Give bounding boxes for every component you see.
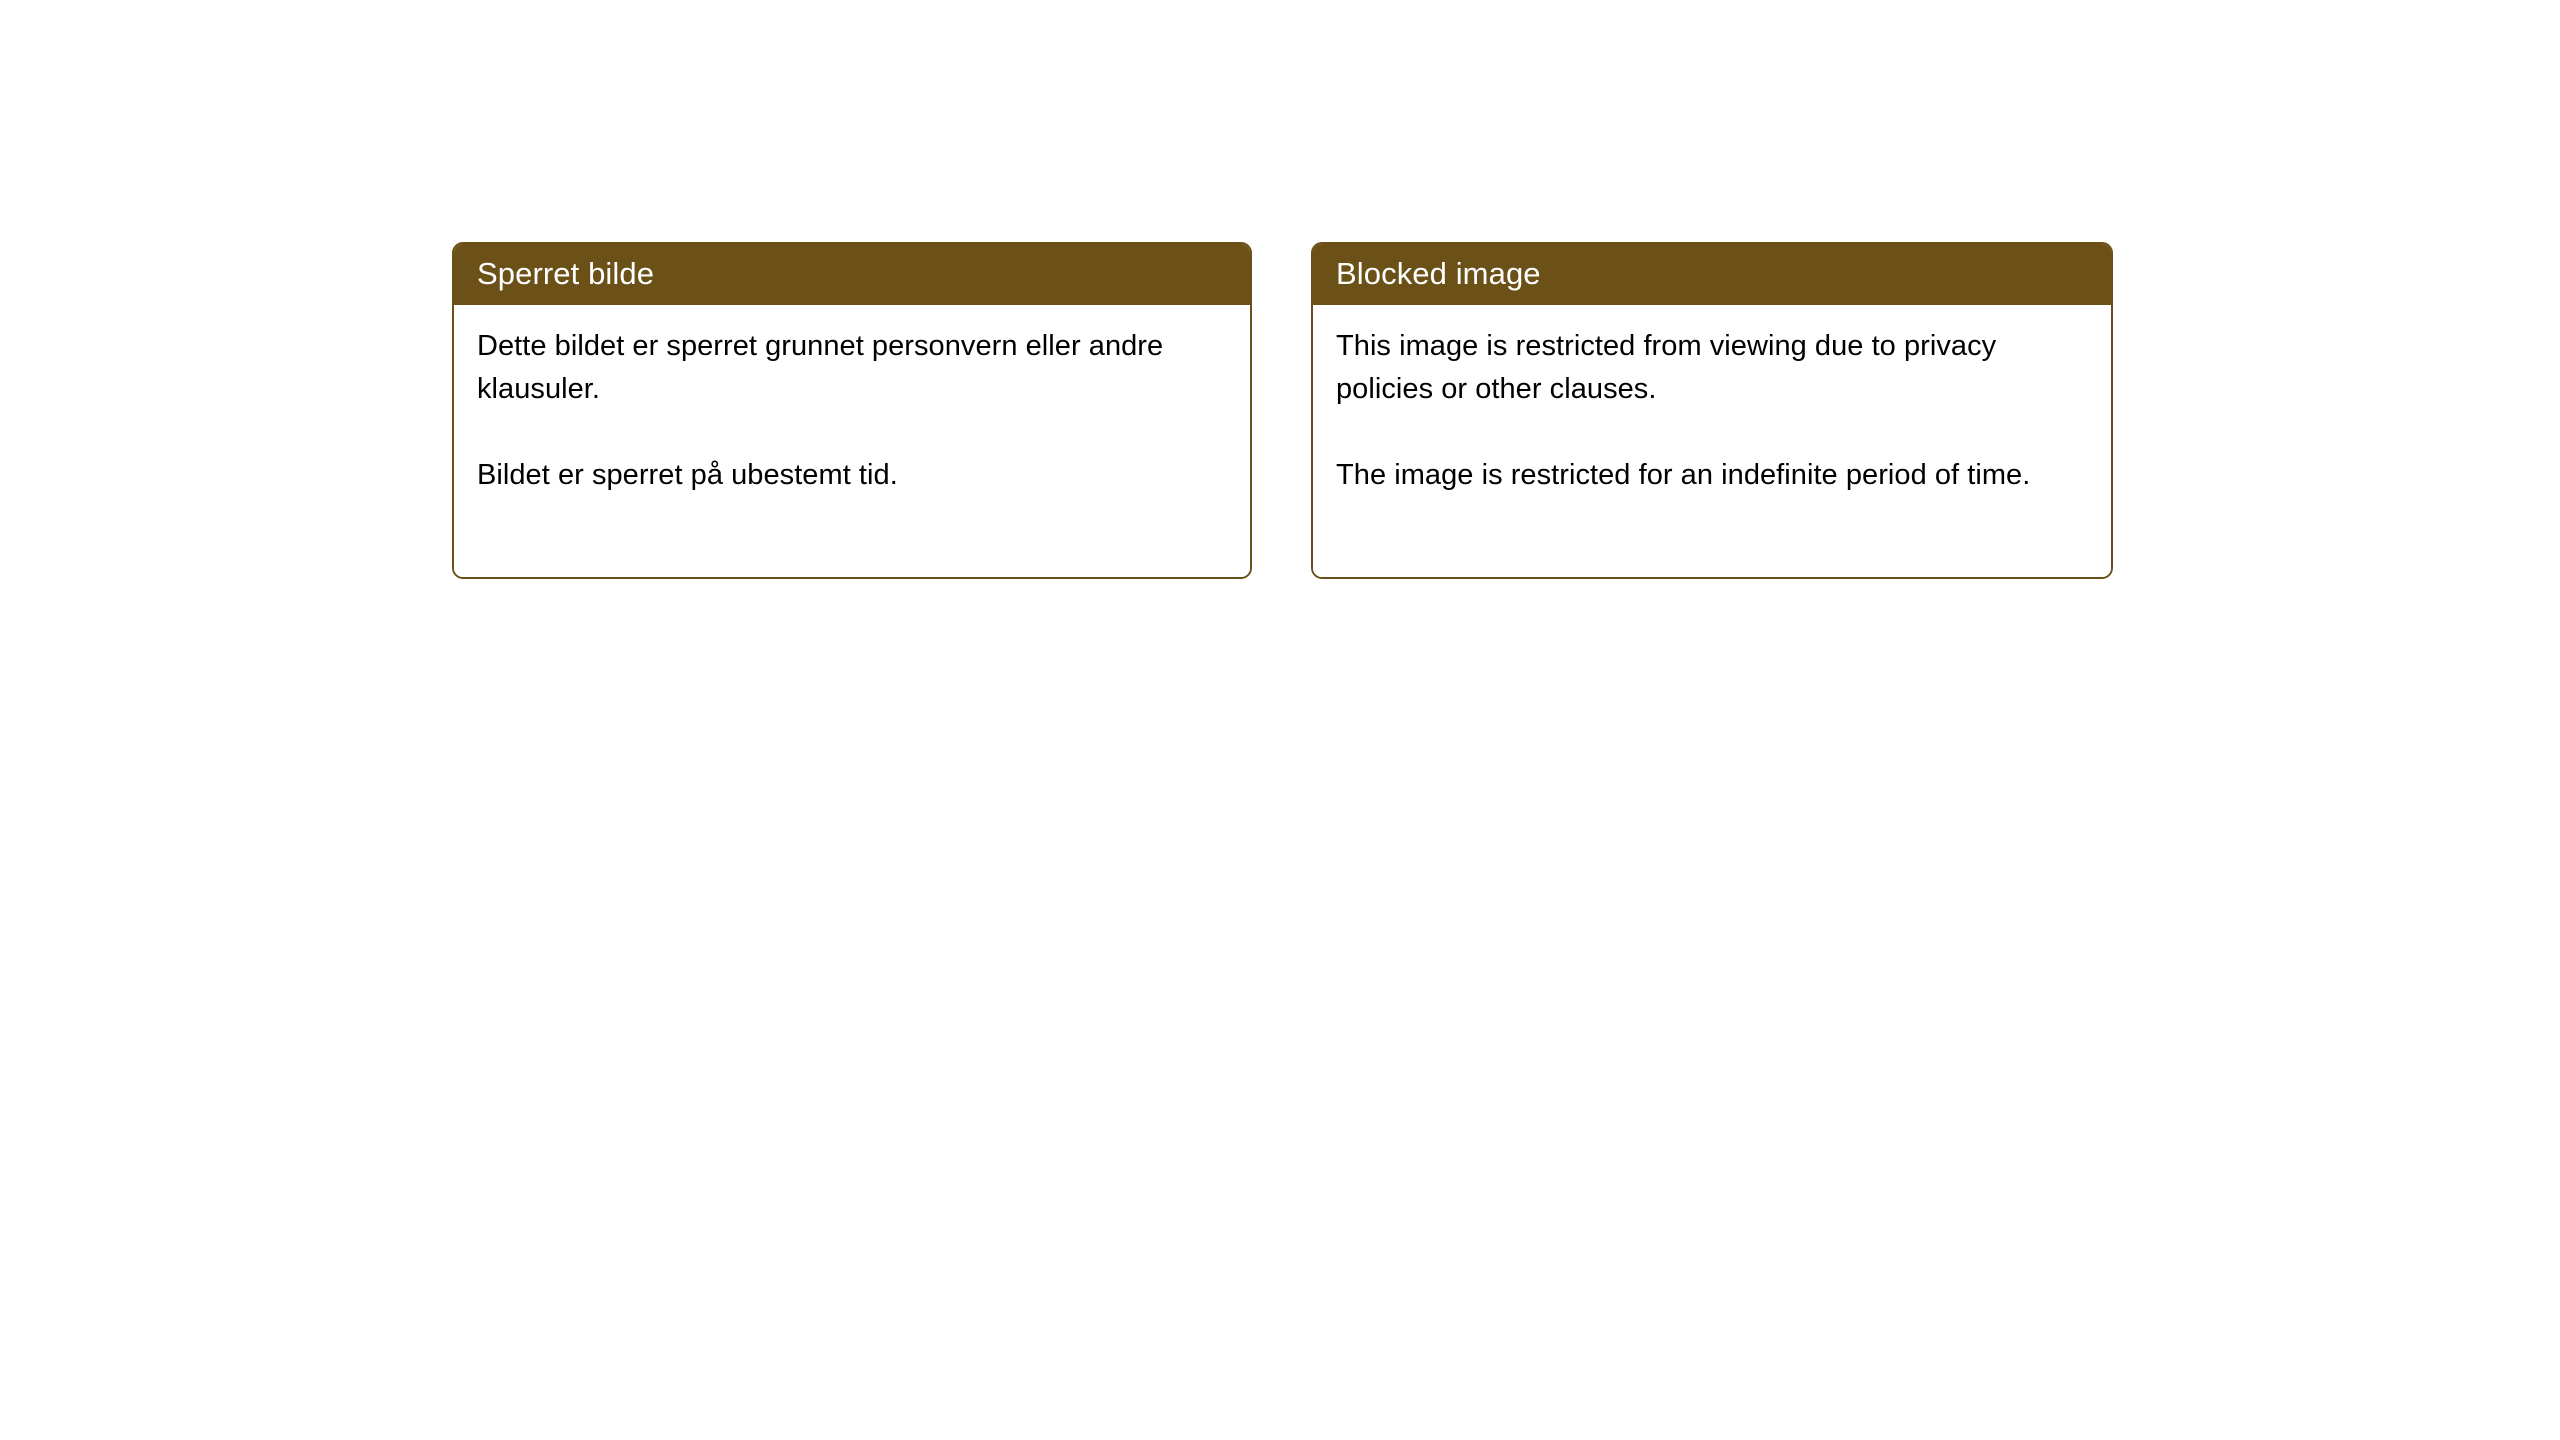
notice-card-body-english: This image is restricted from viewing du… xyxy=(1313,305,2111,577)
notice-card-header-english: Blocked image xyxy=(1313,244,2111,305)
blocked-image-notice-card-english: Blocked image This image is restricted f… xyxy=(1311,242,2113,579)
notice-paragraph-duration-norwegian: Bildet er sperret på ubestemt tid. xyxy=(477,454,1228,497)
notice-paragraph-reason-norwegian: Dette bildet er sperret grunnet personve… xyxy=(477,325,1228,411)
blocked-image-notice-area: Sperret bilde Dette bildet er sperret gr… xyxy=(452,242,2113,579)
blocked-image-notice-card-norwegian: Sperret bilde Dette bildet er sperret gr… xyxy=(452,242,1252,579)
notice-card-title-english: Blocked image xyxy=(1336,258,1541,289)
notice-card-body-norwegian: Dette bildet er sperret grunnet personve… xyxy=(454,305,1250,577)
notice-card-header-norwegian: Sperret bilde xyxy=(454,244,1250,305)
notice-card-title-norwegian: Sperret bilde xyxy=(477,258,654,289)
notice-paragraph-reason-english: This image is restricted from viewing du… xyxy=(1336,325,2089,411)
notice-paragraph-duration-english: The image is restricted for an indefinit… xyxy=(1336,454,2089,497)
